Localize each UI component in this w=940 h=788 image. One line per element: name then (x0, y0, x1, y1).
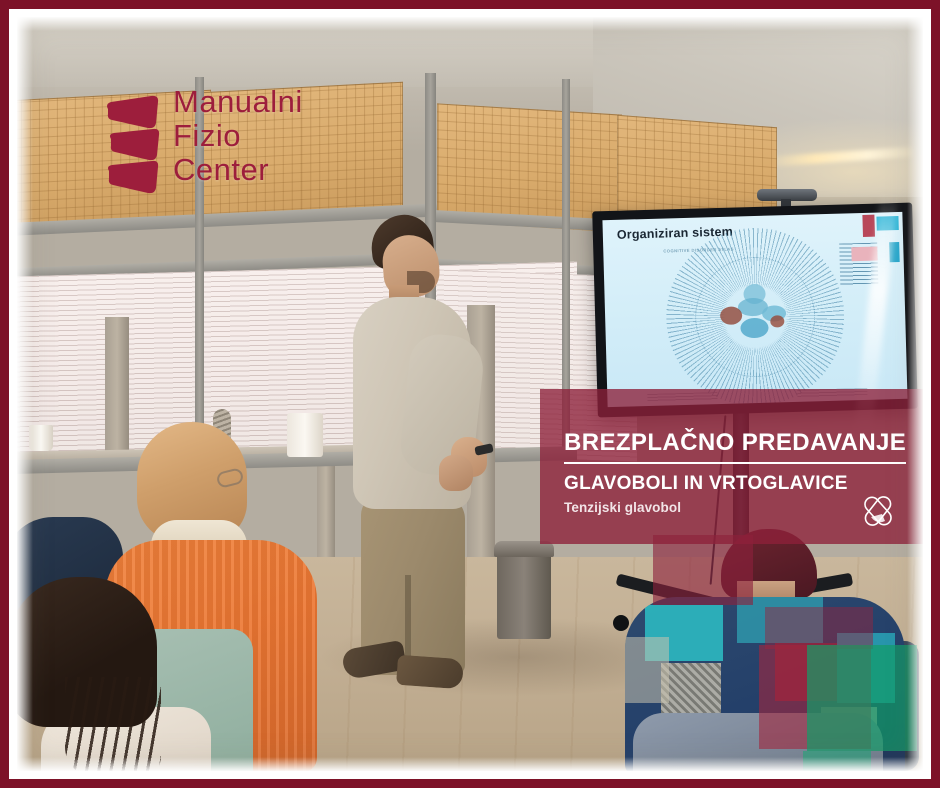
brand-logo: Manualni Fizio Center (101, 81, 361, 211)
mug-object (29, 425, 53, 451)
audience-member-dark-hair (17, 577, 197, 771)
brand-logo-text: Manualni Fizio Center (173, 85, 303, 187)
overlay-block-green (803, 751, 871, 771)
brand-logo-line-3: Center (173, 153, 303, 187)
banner-headline: BREZPLAČNO PREDAVANJE (564, 429, 906, 464)
spine-segments-icon (101, 95, 165, 199)
presenter-figure (339, 215, 489, 685)
overlay-block-green (807, 645, 917, 751)
trash-bin (497, 547, 551, 639)
brand-logo-line-2: Fizio (173, 119, 303, 153)
crossed-capsules-icon (857, 490, 903, 532)
overlay-block-maroon (765, 607, 873, 649)
slide-corner-block (862, 215, 875, 237)
audience-hair-strands (65, 677, 161, 771)
event-banner: BREZPLAČNO PREDAVANJE GLAVOBOLI IN VRTOG… (540, 389, 923, 544)
presentation-display: Organiziran sistem COGNITIVE DISORDER AT… (592, 203, 918, 418)
overlay-block-maroon (653, 535, 753, 605)
presenter-hand (439, 455, 473, 491)
atlas-brain-graphic (717, 283, 793, 343)
presenter-shoe (396, 655, 464, 690)
brand-logo-line-1: Manualni (173, 85, 303, 119)
event-photograph: Organiziran sistem COGNITIVE DISORDER AT… (17, 17, 923, 771)
poster-frame: Organiziran sistem COGNITIVE DISORDER AT… (0, 0, 940, 788)
